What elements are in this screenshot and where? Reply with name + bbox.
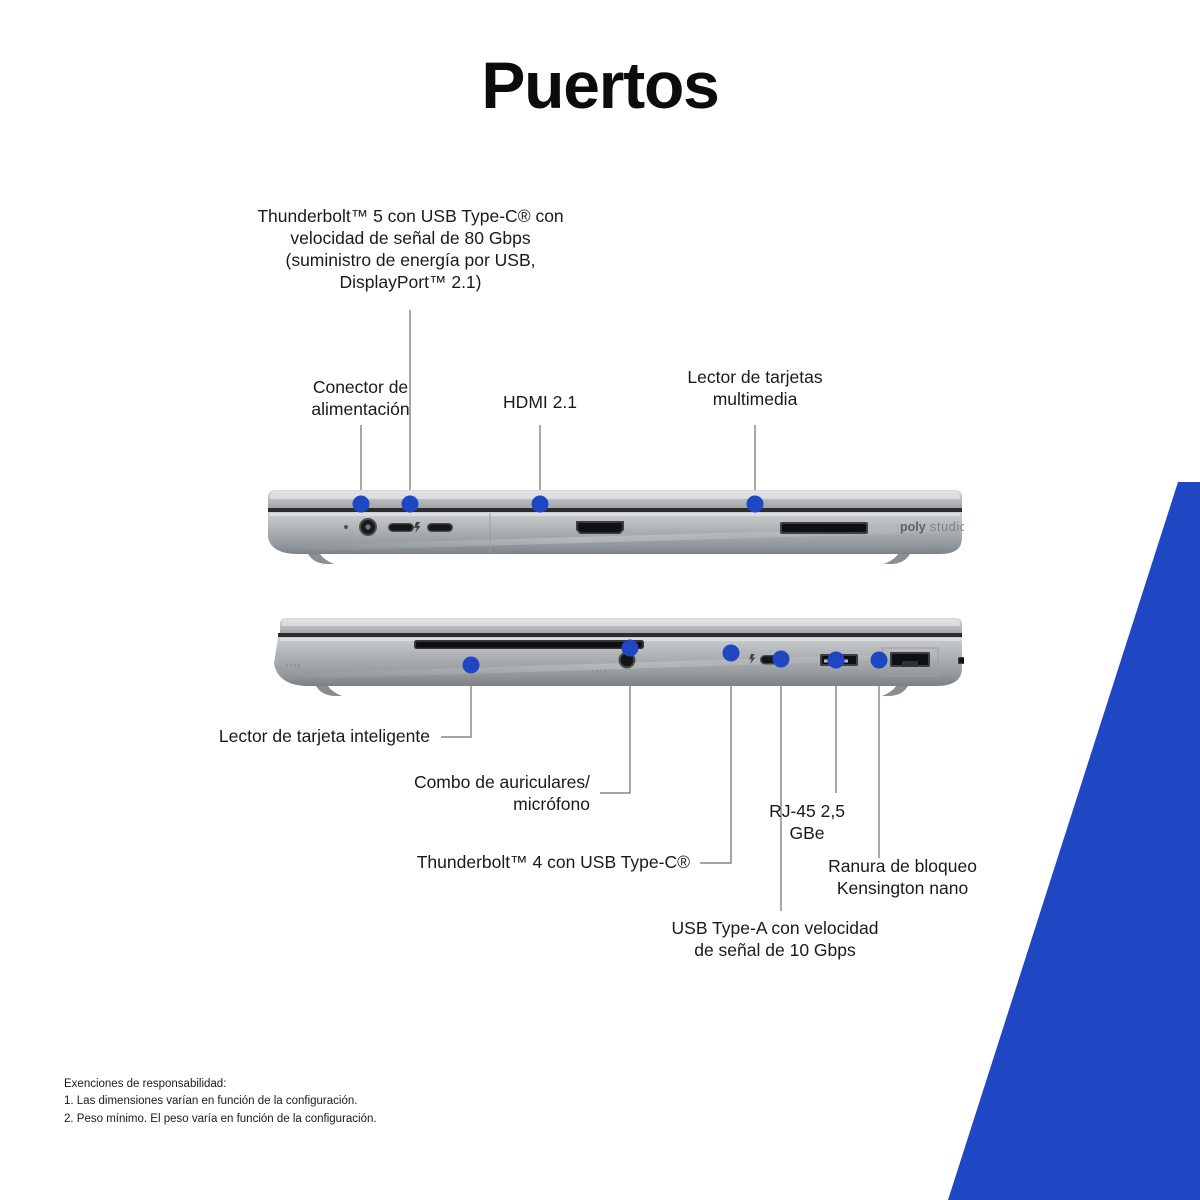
kensington-nano-lock-slot bbox=[958, 657, 964, 664]
hdmi-port bbox=[576, 521, 624, 534]
port-markers bbox=[0, 0, 1200, 1200]
brand-studio: studio bbox=[930, 520, 964, 534]
smart-card-reader-slot bbox=[414, 640, 644, 649]
callout-hdmi: HDMI 2.1 bbox=[445, 392, 635, 414]
blue-corner-wedge bbox=[0, 0, 1200, 1200]
brand-poly: poly bbox=[900, 520, 926, 534]
poster-canvas: Puertos Thunderbolt™ 5 con USB Type-C® c… bbox=[0, 0, 1200, 1200]
disclaimer-text: Exenciones de responsabilidad: 1. Las di… bbox=[64, 1076, 377, 1128]
laptop-side-view-left-ports: poly studio bbox=[264, 482, 964, 582]
callout-usb-type-a: USB Type-A con velocidad de señal de 10 … bbox=[630, 918, 920, 962]
thunderbolt-5-usb-c-port bbox=[388, 523, 414, 532]
headphone-microphone-jack bbox=[619, 652, 636, 669]
thunderbolt-4-usb-c-port bbox=[760, 655, 788, 665]
leader-lines bbox=[0, 0, 1200, 1200]
callout-smart-card-reader: Lector de tarjeta inteligente bbox=[120, 726, 430, 748]
callout-power-connector: Conector de alimentación bbox=[248, 377, 473, 421]
callout-thunderbolt-4: Thunderbolt™ 4 con USB Type-C® bbox=[300, 852, 690, 874]
callout-media-card-reader: Lector de tarjetas multimedia bbox=[645, 367, 865, 411]
callout-thunderbolt-5: Thunderbolt™ 5 con USB Type-C® con veloc… bbox=[228, 206, 593, 294]
callout-kensington: Ranura de bloqueo Kensington nano bbox=[790, 856, 1015, 900]
media-card-reader-slot bbox=[780, 522, 868, 534]
thunderbolt-5-usb-c-port-2 bbox=[427, 523, 453, 532]
usb-type-a-port bbox=[820, 654, 858, 666]
power-connector-port bbox=[359, 518, 377, 536]
callout-rj45: RJ-45 2,5 GBe bbox=[747, 801, 867, 845]
callout-headphone-combo: Combo de auriculares/ micrófono bbox=[300, 772, 590, 816]
page-title: Puertos bbox=[0, 52, 1200, 118]
laptop-side-view-right-ports bbox=[264, 612, 964, 712]
status-led bbox=[344, 525, 348, 529]
